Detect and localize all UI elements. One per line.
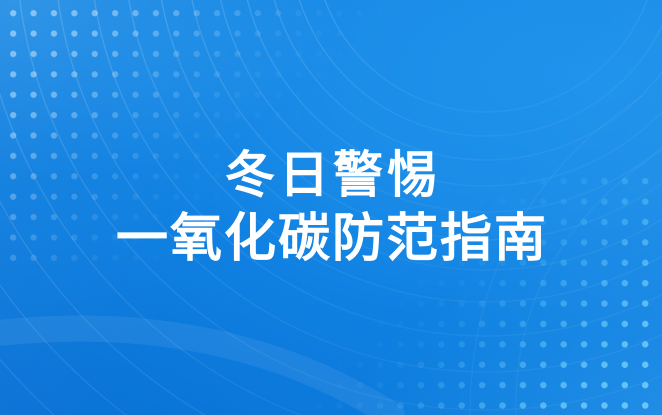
title-line-1: 冬日警惕 [221,149,441,201]
banner-poster: 冬日警惕 一氧化碳防范指南 [0,0,662,415]
headline-block: 冬日警惕 一氧化碳防范指南 [0,0,662,415]
title-line-2: 一氧化碳防范指南 [114,212,548,266]
